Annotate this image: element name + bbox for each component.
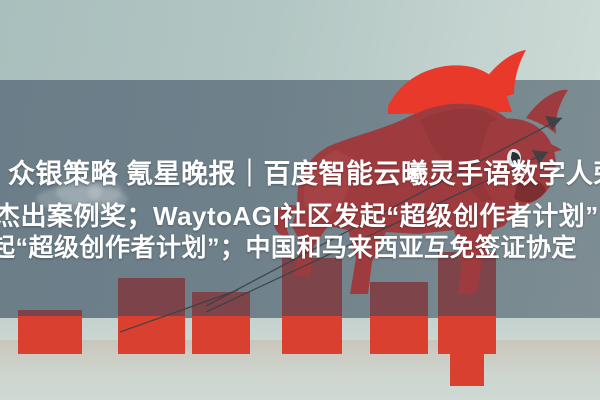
headline-line-3: 起“超级创作者计划”；中国和马来西亚互免签证协定 <box>0 228 577 264</box>
news-thumbnail-image: 众银策略 氪星晚报｜百度智能云曦灵手语数字人荣 杰出案例奖；WaytoAGI社区… <box>0 0 600 400</box>
headline-line-1: 众银策略 氪星晚报｜百度智能云曦灵手语数字人荣 <box>8 152 600 191</box>
